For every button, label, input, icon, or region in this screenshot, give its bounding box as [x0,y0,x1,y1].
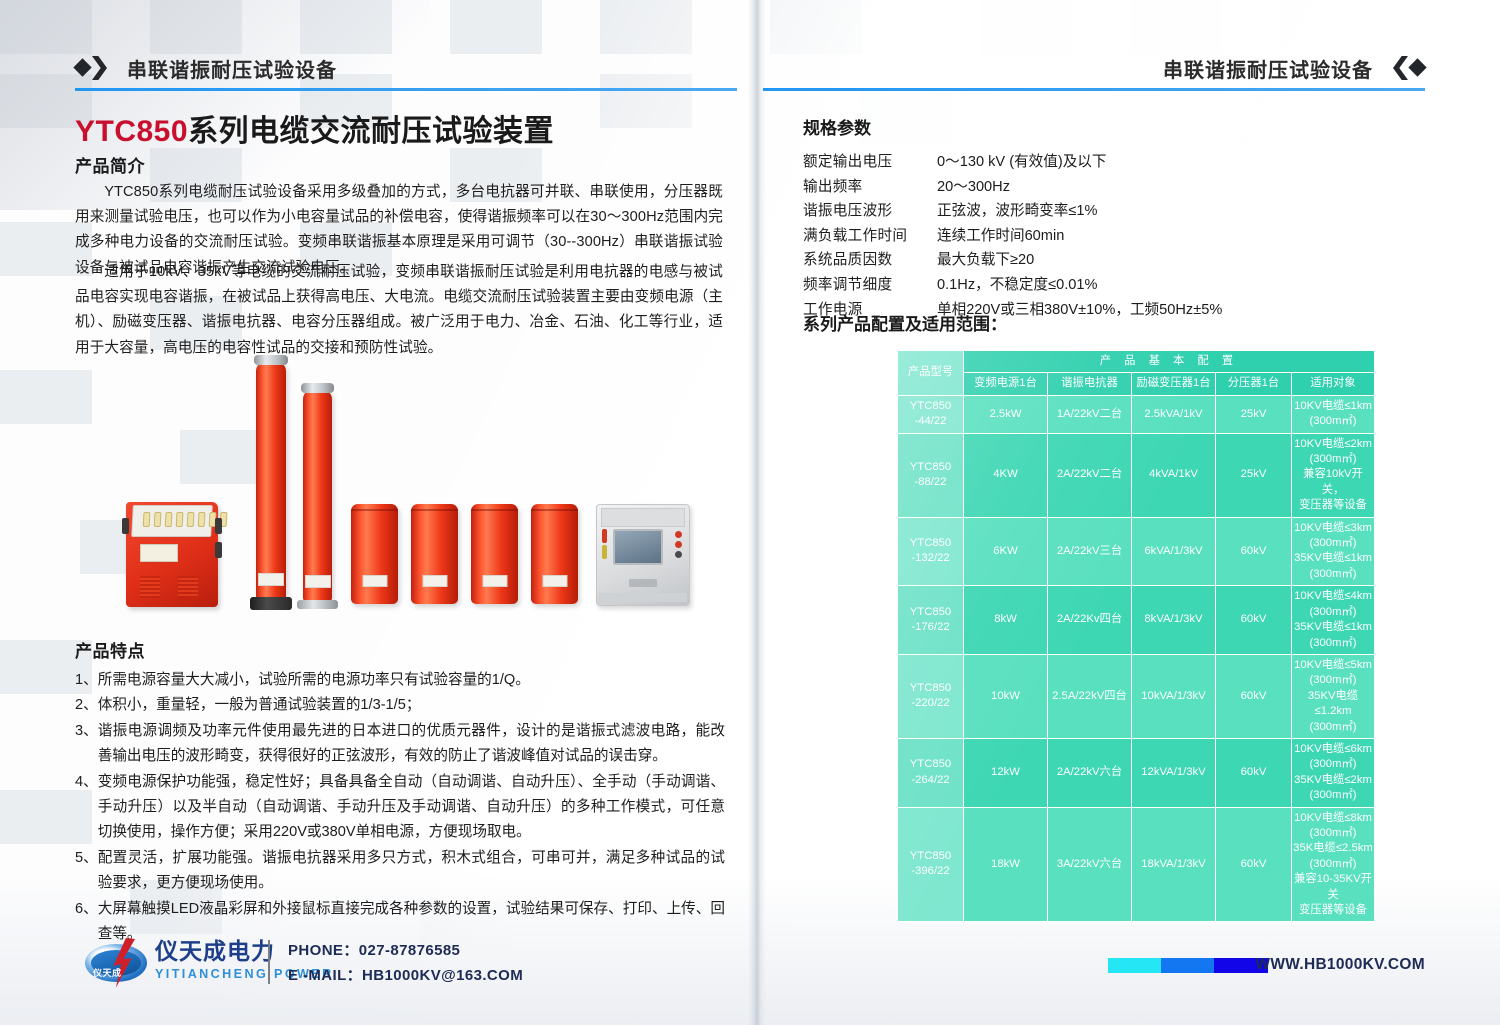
series-heading: 系列产品配置及适用范围： [803,310,1007,335]
scope-line: 10KV电缆≤6km [1293,742,1373,757]
header-right-title: 串联谐振耐压试验设备 [1163,54,1373,83]
cell-config-1: 2A/22kV二台 [1048,433,1132,517]
cell-scope: 10KV电缆≤1km(300m㎡) [1292,395,1375,433]
cell-scope: 10KV电缆≤3km(300m㎡)35KV电缆≤1km(300m㎡) [1292,517,1375,586]
scope-line: 10KV电缆≤2km [1293,437,1373,452]
feature-text: 配置灵活，扩展功能强。谐振电抗器采用多只方式，积木式组合，可串可并，满足多种试品… [98,846,725,897]
spec-label: 额定输出电压 [803,150,937,175]
header-left-title: 串联谐振耐压试验设备 [127,54,337,83]
scope-line: (300m㎡) [1293,757,1373,772]
feature-number: 3、 [75,719,98,770]
model-line: -220/22 [899,696,962,711]
scope-line: (300m㎡) [1293,857,1373,872]
header-rule-left [75,88,737,91]
footer-website: WWW.HB1000KV.COM [1255,956,1425,974]
features-list: 1、所需电源容量大大减小，试验所需的电源功率只有试验容量的1/Q。2、体积小，重… [75,668,725,947]
footer-email: E -MAIL：HB1000KV@163.COM [288,963,523,988]
col-header-4: 适用对象 [1292,373,1375,395]
cell-model: YTC850-88/22 [898,433,964,517]
col-header-1: 谐振电抗器 [1048,373,1132,395]
spec-table: 额定输出电压0～130 kV (有效值)及以下输出频率20～300Hz谐振电压波… [803,150,1222,322]
model-line: YTC850 [899,849,962,864]
page-title-rest: 系列电缆交流耐压试验装置 [188,115,554,148]
scope-line: 变压器等设备 [1293,498,1373,513]
company-logo-icon: 仪天成 [85,938,147,988]
reactor-unit-3 [471,504,518,604]
cell-scope: 10KV电缆≤5km(300m㎡)35KV电缆≤1.2km(300m㎡) [1292,654,1375,738]
cell-config-1: 2A/22Kv四台 [1048,586,1132,655]
spec-row: 谐振电压波形正弦波，波形畸变率≤1% [803,199,1222,224]
cell-config-2: 10kVA/1/3kV [1132,654,1216,738]
model-line: YTC850 [899,757,962,772]
feature-text: 体积小，重量轻，一般为普通试验装置的1/3-1/5； [98,693,725,718]
product-photo [108,352,728,624]
feature-text: 变频电源保护功能强，稳定性好；具备具备全自动（自动调谐、自动升压）、全手动（手动… [98,770,725,846]
scope-line: (300m㎡) [1293,673,1373,688]
cell-config-3: 25kV [1216,395,1292,433]
diamond-chevron-icon-mirrored [1383,55,1425,81]
scope-line: 35KV电缆≤1km [1293,620,1373,635]
cell-scope: 10KV电缆≤8km(300m㎡)35K电缆≤2.5km(300m㎡)兼容10-… [1292,807,1375,922]
intro-text-2: 适用于10kV、35kV等电缆的交流耐压试验，变频串联谐振耐压试验是利用电抗器的… [75,260,723,361]
scope-line: (300m㎡) [1293,414,1373,429]
scope-line: (300m㎡) [1293,788,1373,803]
scope-line: (300m㎡) [1293,536,1373,551]
spec-value: 连续工作时间60min [937,224,1222,249]
feature-item: 3、谐振电源调频及功率元件使用最先进的日本进口的优质元器件，设计的是谐振式滤波电… [75,719,725,770]
col-header-model: 产品型号 [898,351,964,396]
cell-config-3: 60kV [1216,807,1292,922]
feature-item: 4、变频电源保护功能强，稳定性好；具备具备全自动（自动调谐、自动升压）、全手动（… [75,770,725,846]
table-row: YTC850-132/226KW2A/22kV三台6kVA/1/3kV60kV1… [898,517,1375,586]
col-header-2: 励磁变压器1台 [1132,373,1216,395]
page-title-model: YTC850 [75,115,188,148]
footer-phone: PHONE：027-87876585 [288,938,523,963]
page-fold [748,0,766,1025]
model-line: YTC850 [899,536,962,551]
config-table-body: YTC850-44/222.5kW1A/22kV二台2.5kVA/1kV25kV… [898,395,1375,922]
feature-text: 谐振电源调频及功率元件使用最先进的日本进口的优质元器件，设计的是谐振式滤波电路，… [98,719,725,770]
config-table-wrap: 产品型号 产 品 基 本 配 置 变频电源1台谐振电抗器励磁变压器1台分压器1台… [897,350,1374,922]
feature-number: 1、 [75,668,98,693]
spec-label: 满负载工作时间 [803,224,937,249]
model-line: -44/22 [899,414,962,429]
cell-config-3: 60kV [1216,586,1292,655]
cell-config-1: 2.5A/22kV四台 [1048,654,1132,738]
spec-value: 20～300Hz [937,175,1222,200]
scope-line: (300m㎡) [1293,636,1373,651]
feature-item: 1、所需电源容量大大减小，试验所需的电源功率只有试验容量的1/Q。 [75,668,725,693]
cell-model: YTC850-396/22 [898,807,964,922]
scope-line: 35KV电缆≤1.2km [1293,689,1373,720]
scope-line: 10KV电缆≤5km [1293,658,1373,673]
reactor-unit-2 [411,504,458,604]
spec-label: 输出频率 [803,175,937,200]
scope-line: 35KV电缆≤2km [1293,773,1373,788]
cell-config-0: 12kW [964,738,1048,807]
model-line: -176/22 [899,620,962,635]
spec-row: 额定输出电压0～130 kV (有效值)及以下 [803,150,1222,175]
scope-line: (300m㎡) [1293,826,1373,841]
page-title: YTC850系列电缆交流耐压试验装置 [75,106,554,150]
cell-model: YTC850-44/22 [898,395,964,433]
cell-config-1: 2A/22kV六台 [1048,738,1132,807]
cell-scope: 10KV电缆≤6km(300m㎡)35KV电缆≤2km(300m㎡) [1292,738,1375,807]
features-heading: 产品特点 [75,637,145,662]
feature-item: 2、体积小，重量轻，一般为普通试验装置的1/3-1/5； [75,693,725,718]
feature-number: 4、 [75,770,98,846]
cell-model: YTC850-176/22 [898,586,964,655]
diamond-chevron-icon [75,55,117,81]
spec-value: 最大负载下≥20 [937,248,1222,273]
cell-config-3: 60kV [1216,738,1292,807]
cell-config-3: 60kV [1216,517,1292,586]
cell-config-2: 8kVA/1/3kV [1132,586,1216,655]
table-row: YTC850-396/2218kW3A/22kV六台18kVA/1/3kV60k… [898,807,1375,922]
cell-config-2: 2.5kVA/1kV [1132,395,1216,433]
spec-row: 输出频率20～300Hz [803,175,1222,200]
feature-item: 5、配置灵活，扩展功能强。谐振电抗器采用多只方式，积木式组合，可串可并，满足多种… [75,846,725,897]
feature-number: 2、 [75,693,98,718]
cell-config-1: 1A/22kV二台 [1048,395,1132,433]
cell-config-1: 2A/22kV三台 [1048,517,1132,586]
spec-label: 系统品质因数 [803,248,937,273]
scope-line: (300m㎡) [1293,567,1373,582]
scope-line: 35KV电缆≤1km [1293,551,1373,566]
model-line: -132/22 [899,551,962,566]
divider-column-tall [256,362,286,600]
scope-line: (300m㎡) [1293,720,1373,735]
spec-row: 频率调节细度0.1Hz，不稳定度≤0.01% [803,273,1222,298]
scope-line: 变压器等设备 [1293,903,1373,918]
model-line: YTC850 [899,605,962,620]
scope-line: 兼容10kV开关， [1293,467,1373,498]
divider-column-short [303,390,332,602]
header-rule-right [763,88,1425,91]
scope-line: 35K电缆≤2.5km [1293,841,1373,856]
cell-model: YTC850-132/22 [898,517,964,586]
model-line: YTC850 [899,460,962,475]
cell-model: YTC850-264/22 [898,738,964,807]
table-row: YTC850-88/224KW2A/22kV二台4kVA/1kV25kV10KV… [898,433,1375,517]
cell-config-2: 18kVA/1/3kV [1132,807,1216,922]
reactor-unit-4 [531,504,578,604]
table-row: YTC850-220/2210kW2.5A/22kV四台10kVA/1/3kV6… [898,654,1375,738]
variable-frequency-power-source [126,502,218,607]
cell-config-0: 10kW [964,654,1048,738]
cell-config-0: 18kW [964,807,1048,922]
cell-scope: 10KV电缆≤4km(300m㎡)35KV电缆≤1km(300m㎡) [1292,586,1375,655]
col-header-group: 产 品 基 本 配 置 [964,351,1375,373]
spec-value: 0～130 kV (有效值)及以下 [937,150,1222,175]
control-console [596,504,690,606]
spec-heading: 规格参数 [803,114,871,139]
cell-config-0: 4KW [964,433,1048,517]
cell-scope: 10KV电缆≤2km(300m㎡)兼容10kV开关，变压器等设备 [1292,433,1375,517]
header-left: 串联谐振耐压试验设备 [75,45,337,91]
table-head-row-1: 产品型号 产 品 基 本 配 置 [898,351,1375,373]
table-row: YTC850-44/222.5kW1A/22kV二台2.5kVA/1kV25kV… [898,395,1375,433]
scope-line: 10KV电缆≤4km [1293,589,1373,604]
footer-divider [268,940,270,984]
scope-line: 10KV电缆≤3km [1293,521,1373,536]
scope-line: 兼容10-35KV开关 [1293,872,1373,903]
footer-contact: PHONE：027-87876585 E -MAIL：HB1000KV@163.… [288,938,523,988]
cell-config-3: 60kV [1216,654,1292,738]
cell-model: YTC850-220/22 [898,654,964,738]
cell-config-0: 6KW [964,517,1048,586]
intro-heading: 产品简介 [75,152,145,177]
cell-config-0: 8kW [964,586,1048,655]
table-head-row-2: 变频电源1台谐振电抗器励磁变压器1台分压器1台适用对象 [898,373,1375,395]
header-right: 串联谐振耐压试验设备 [1163,45,1425,91]
model-line: YTC850 [899,681,962,696]
table-row: YTC850-264/2212kW2A/22kV六台12kVA/1/3kV60k… [898,738,1375,807]
config-table: 产品型号 产 品 基 本 配 置 变频电源1台谐振电抗器励磁变压器1台分压器1台… [897,350,1375,922]
cell-config-2: 6kVA/1/3kV [1132,517,1216,586]
spec-label: 频率调节细度 [803,273,937,298]
footer-color-bar [1108,958,1268,973]
table-row: YTC850-176/228kW2A/22Kv四台8kVA/1/3kV60kV1… [898,586,1375,655]
cell-config-2: 12kVA/1/3kV [1132,738,1216,807]
spec-row: 系统品质因数最大负载下≥20 [803,248,1222,273]
spec-row: 满负载工作时间连续工作时间60min [803,224,1222,249]
cell-config-0: 2.5kW [964,395,1048,433]
feature-text: 所需电源容量大大减小，试验所需的电源功率只有试验容量的1/Q。 [98,668,725,693]
brochure-page: 串联谐振耐压试验设备 串联谐振耐压试验设备 YTC850系列电缆交流耐压试验装置… [0,0,1500,1025]
scope-line: (300m㎡) [1293,452,1373,467]
intro-paragraph-2: 适用于10kV、35kV等电缆的交流耐压试验，变频串联谐振耐压试验是利用电抗器的… [75,260,723,361]
model-line: -88/22 [899,475,962,490]
col-header-0: 变频电源1台 [964,373,1048,395]
model-line: -396/22 [899,864,962,879]
reactor-unit-1 [351,504,398,604]
feature-number: 5、 [75,846,98,897]
spec-value: 正弦波，波形畸变率≤1% [937,199,1222,224]
spec-value: 0.1Hz，不稳定度≤0.01% [937,273,1222,298]
scope-line: (300m㎡) [1293,605,1373,620]
model-line: -264/22 [899,773,962,788]
cell-config-1: 3A/22kV六台 [1048,807,1132,922]
cell-config-2: 4kVA/1kV [1132,433,1216,517]
col-header-3: 分压器1台 [1216,373,1292,395]
cell-config-3: 25kV [1216,433,1292,517]
model-line: YTC850 [899,399,962,414]
scope-line: 10KV电缆≤8km [1293,811,1373,826]
scope-line: 10KV电缆≤1km [1293,399,1373,414]
logo-mark-text: 仪天成 [93,966,122,979]
spec-label: 谐振电压波形 [803,199,937,224]
